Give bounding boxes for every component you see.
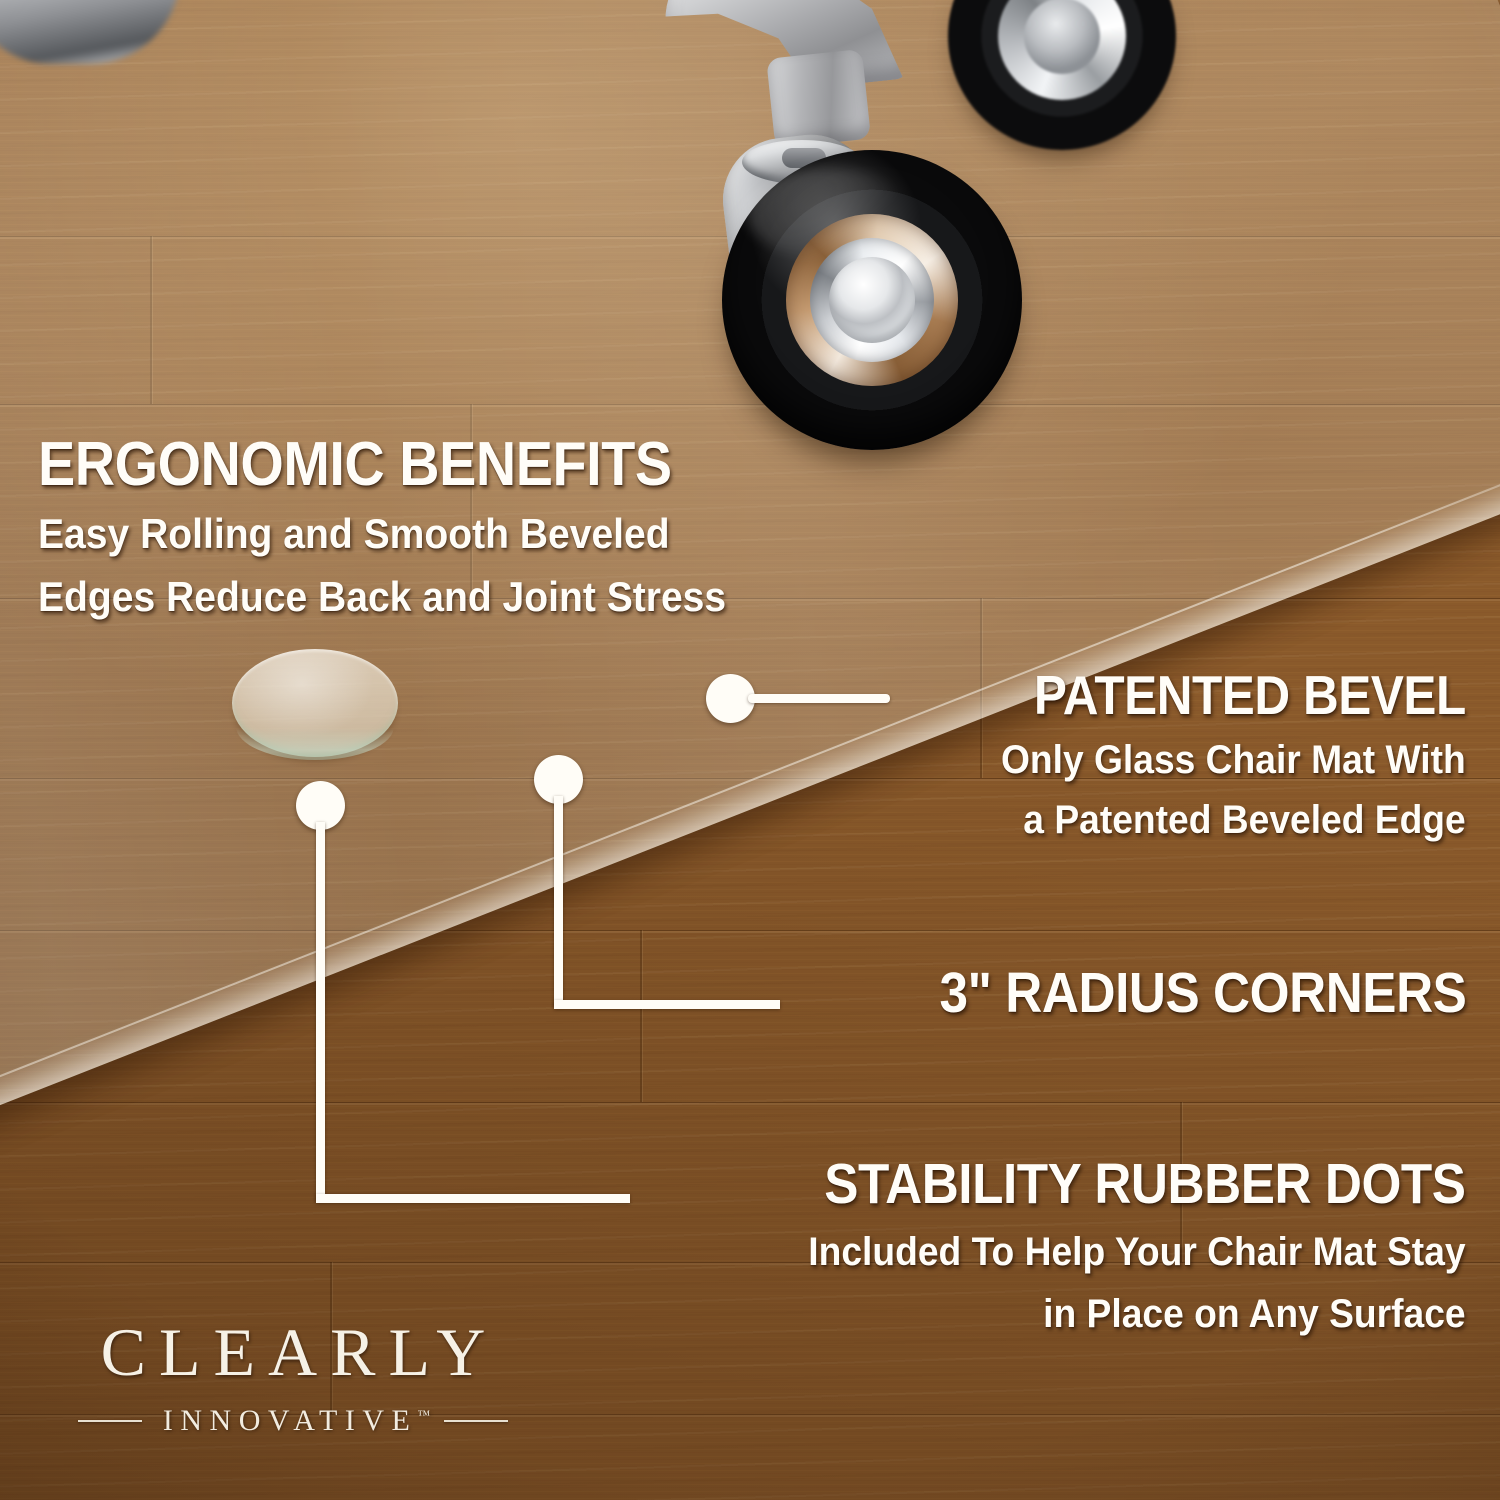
brand-logo-sub-word: INNOVATIVE™	[156, 1404, 430, 1438]
callout-headline: ERGONOMIC BENEFITS	[38, 434, 704, 496]
product-infographic: ERGONOMIC BENEFITS Easy Rolling and Smoo…	[0, 0, 1500, 1500]
callout-subline-2: in Place on Any Surface	[803, 1291, 1466, 1337]
brand-logo-subline: INNOVATIVE™	[78, 1404, 508, 1438]
callout-subline-1: Only Glass Chair Mat With	[1001, 737, 1466, 783]
brand-logo: CLEARLY INNOVATIVE™	[78, 1318, 508, 1438]
leader-line-radius-corners-vertical	[554, 796, 563, 1006]
callout-headline: PATENTED BEVEL	[1016, 668, 1466, 723]
trademark-symbol: ™	[417, 1407, 430, 1422]
callout-radius-corners: 3" RADIUS CORNERS	[881, 965, 1466, 1022]
callout-subline-2: a Patented Beveled Edge	[1001, 797, 1466, 843]
leader-line-stability-dots-horizontal	[316, 1194, 630, 1203]
callout-patented-bevel: PATENTED BEVEL Only Glass Chair Mat With…	[966, 668, 1466, 844]
leader-line-stability-dots-vertical	[316, 822, 325, 1200]
leader-line-radius-corners-horizontal	[554, 1000, 780, 1009]
brand-logo-word: CLEARLY	[78, 1318, 508, 1386]
callout-ergonomic-benefits: ERGONOMIC BENEFITS Easy Rolling and Smoo…	[38, 434, 778, 621]
callout-subline-1: Included To Help Your Chair Mat Stay	[803, 1229, 1466, 1275]
callout-subline-2: Edges Reduce Back and Joint Stress	[38, 573, 726, 622]
logo-rule-right	[444, 1420, 508, 1422]
callout-headline: STABILITY RUBBER DOTS	[825, 1156, 1466, 1213]
logo-rule-left	[78, 1420, 142, 1422]
callout-subline-1: Easy Rolling and Smooth Beveled	[38, 510, 726, 559]
leader-line-patented-bevel	[748, 694, 890, 703]
callout-headline: 3" RADIUS CORNERS	[939, 965, 1466, 1022]
callout-stability-rubber-dots: STABILITY RUBBER DOTS Included To Help Y…	[753, 1156, 1466, 1338]
